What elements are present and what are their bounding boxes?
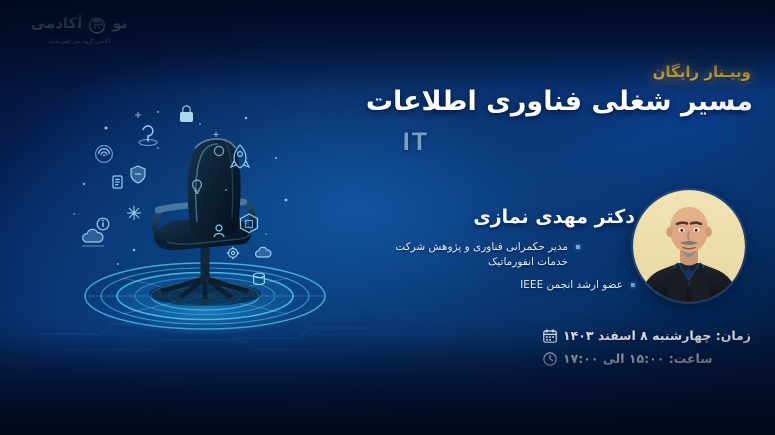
title-subtitle-latin: IT bbox=[403, 128, 429, 157]
brand-logo[interactable]: نو آکادمی آکادمی گروه ملی انفورماتیک bbox=[14, 9, 144, 53]
event-date-row: زمان: چهارشنبه ۸ اسفند ۱۴۰۳ bbox=[543, 328, 751, 343]
event-time-row: ساعت: ۱۵:۰۰ الی ۱۷:۰۰ bbox=[543, 351, 713, 366]
speaker-credentials: مدیر حکمرانی فناوری و پژوهش شرکت خدمات ا… bbox=[375, 240, 635, 301]
bullet-square-icon bbox=[631, 283, 635, 287]
event-time-label: ساعت: ۱۵:۰۰ الی ۱۷:۰۰ bbox=[563, 351, 713, 366]
list-item: عضو ارشد انجمن IEEE bbox=[375, 278, 635, 293]
credential-text: عضو ارشد انجمن IEEE bbox=[520, 279, 623, 291]
avatar bbox=[633, 190, 745, 302]
graduation-cap-icon bbox=[84, 10, 110, 36]
logo-wordmark-row: نو آکادمی bbox=[31, 9, 128, 37]
event-meta: زمان: چهارشنبه ۸ اسفند ۱۴۰۳ ساعت: ۱۵:۰۰ … bbox=[543, 328, 751, 366]
free-webinar-badge: وبیـنار رایگان bbox=[653, 63, 751, 81]
logo-word-left: نو bbox=[112, 16, 127, 31]
calendar-icon bbox=[543, 329, 557, 343]
hero-illustration bbox=[40, 88, 370, 353]
event-date-label: زمان: چهارشنبه ۸ اسفند ۱۴۰۳ bbox=[563, 328, 751, 343]
speaker-name: دکتر مهدی نمازی bbox=[473, 206, 635, 228]
credential-text: مدیر حکمرانی فناوری و پژوهش شرکت خدمات ا… bbox=[395, 241, 568, 268]
logo-word-right: آکادمی bbox=[31, 16, 83, 31]
brand-tagline: آکادمی گروه ملی انفورماتیک bbox=[48, 39, 110, 45]
webinar-poster: نو آکادمی آکادمی گروه ملی انفورماتیک bbox=[0, 0, 775, 435]
list-item: مدیر حکمرانی فناوری و پژوهش شرکت خدمات ا… bbox=[375, 240, 580, 270]
page-title: مسیر شغلی فناوری اطلاعات bbox=[366, 86, 753, 117]
clock-icon bbox=[543, 352, 557, 366]
bullet-square-icon bbox=[576, 245, 580, 249]
